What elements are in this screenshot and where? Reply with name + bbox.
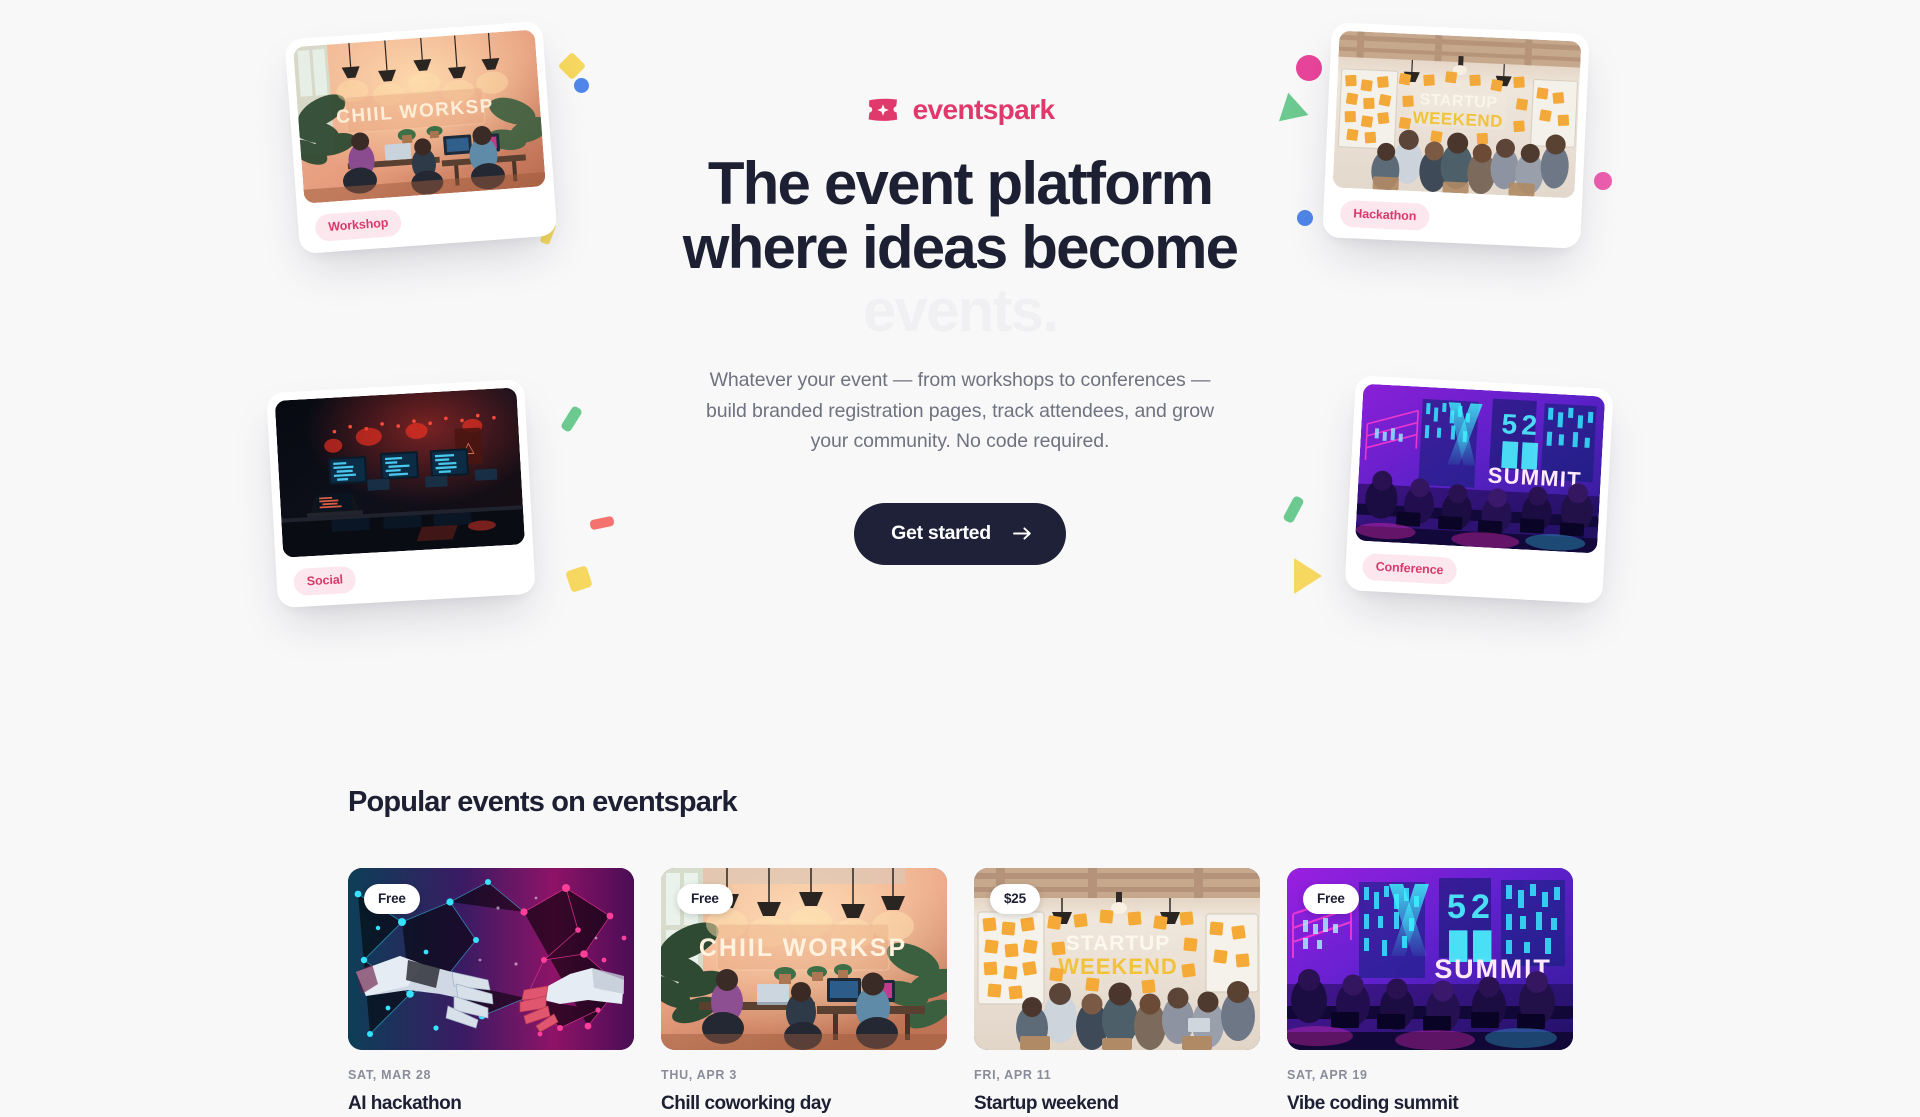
pink-circle-icon [1594,172,1612,190]
red-bar-icon [589,516,615,531]
yellow-square-icon [565,565,593,593]
pink-circle-icon [1296,55,1322,81]
cta-container: Get started [630,503,1290,565]
headline-line-2: where ideas become [630,216,1290,280]
event-card[interactable]: STARTUP WEEKEND [974,868,1260,1117]
svg-text:2: 2 [1471,888,1490,926]
blue-circle-icon [574,78,589,93]
floating-card-conference[interactable]: 5 2 █ █ SUMMIT [1344,375,1613,604]
green-slash-icon [560,405,583,433]
event-card[interactable]: CHIIL WORKSP [661,868,947,1117]
hero-section: CHIIL WORKSP [0,0,1920,760]
events-grid: Free SAT, MAR 28 AI hackathon [348,868,1572,1117]
price-badge: Free [677,884,733,914]
headline-line-1: The event platform [708,150,1212,217]
event-card[interactable]: Free SAT, MAR 28 AI hackathon [348,868,634,1117]
svg-text:WEEKEND: WEEKEND [1412,108,1503,131]
price-badge: Free [1303,884,1359,914]
floating-card-hackathon[interactable]: STARTUP WEEKEND [1322,22,1589,248]
event-title: Chill coworking day [661,1092,947,1117]
price-badge: $25 [990,884,1040,914]
svg-text:CHIIL WORKSP: CHIIL WORKSP [699,934,907,962]
floating-card-chip: Social [293,565,357,595]
event-title: Startup weekend [974,1092,1260,1117]
event-title: AI hackathon [348,1092,634,1117]
svg-text:5: 5 [1501,408,1518,440]
floating-card-chip: Workshop [314,208,402,241]
yellow-diamond-icon [558,52,586,80]
blue-circle-icon [1297,210,1313,226]
get-started-label: Get started [891,522,991,545]
floating-card-social[interactable]: △ [266,379,536,608]
page-title: The event platform where ideas become ev… [630,152,1290,343]
floating-card-photo: △ [275,387,525,557]
floating-card-photo: 5 2 █ █ SUMMIT [1355,384,1605,554]
hero-content: eventspark The event platform where idea… [630,96,1290,565]
yellow-triangle-icon [1294,558,1322,594]
svg-text:WEEKEND: WEEKEND [1058,954,1177,979]
brand-logo[interactable]: eventspark [630,96,1290,124]
popular-events-section: Popular events on eventspark [0,760,1920,1117]
svg-text:2: 2 [1521,409,1538,441]
arrow-right-icon [1013,526,1032,541]
floating-card-chip: Conference [1362,552,1457,584]
ticket-sparkle-icon [866,97,900,123]
svg-text:STARTUP: STARTUP [1066,932,1171,955]
headline-rotating-word: events. [630,279,1290,343]
event-card[interactable]: 5 2 █ █ [1287,868,1573,1117]
floating-card-photo: STARTUP WEEKEND [1333,31,1582,199]
get-started-button[interactable]: Get started [854,503,1066,565]
brand-name: eventspark [913,96,1055,124]
floating-card-chip: Hackathon [1340,199,1430,230]
floating-card-photo: CHIIL WORKSP [293,29,546,203]
price-badge: Free [364,884,420,914]
event-title: Vibe coding summit [1287,1092,1573,1117]
hero-subheading: Whatever your event — from workshops to … [704,365,1216,457]
section-title: Popular events on eventspark [348,760,1572,819]
floating-card-workshop[interactable]: CHIIL WORKSP [284,21,557,254]
svg-text:5: 5 [1447,888,1466,926]
